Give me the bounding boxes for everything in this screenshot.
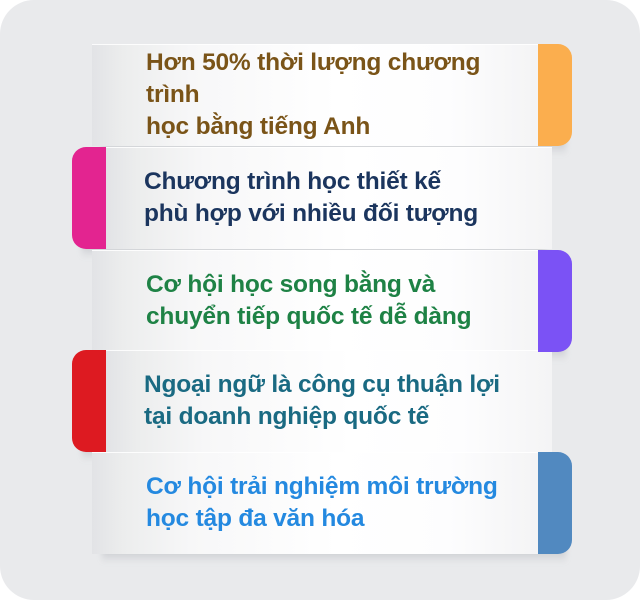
list-item[interactable]: Hơn 50% thời lượng chương trình học bằng…	[92, 44, 572, 146]
list-item[interactable]: Ngoại ngữ là công cụ thuận lợi tại doanh…	[72, 350, 552, 452]
banner-panel: Hơn 50% thời lượng chương trình học bằng…	[92, 44, 538, 146]
accent-bar	[538, 452, 572, 554]
list-item-label: Ngoại ngữ là công cụ thuận lợi tại doanh…	[144, 369, 500, 433]
list-item[interactable]: Cơ hội học song bằng và chuyển tiếp quốc…	[92, 250, 572, 352]
banner-list: Hơn 50% thời lượng chương trình học bằng…	[0, 0, 640, 600]
accent-bar	[72, 147, 106, 249]
accent-bar	[538, 44, 572, 146]
accent-bar	[538, 250, 572, 352]
list-item[interactable]: Cơ hội trải nghiệm môi trường học tập đa…	[92, 452, 572, 554]
infographic-canvas: Hơn 50% thời lượng chương trình học bằng…	[0, 0, 640, 600]
banner-panel: Cơ hội trải nghiệm môi trường học tập đa…	[92, 452, 538, 554]
banner-panel: Chương trình học thiết kế phù hợp với nh…	[106, 147, 552, 249]
list-item-label: Hơn 50% thời lượng chương trình học bằng…	[146, 47, 538, 143]
accent-bar	[72, 350, 106, 452]
list-item-label: Chương trình học thiết kế phù hợp với nh…	[144, 166, 478, 230]
banner-panel: Ngoại ngữ là công cụ thuận lợi tại doanh…	[106, 350, 552, 452]
banner-panel: Cơ hội học song bằng và chuyển tiếp quốc…	[92, 250, 538, 352]
list-item[interactable]: Chương trình học thiết kế phù hợp với nh…	[72, 147, 552, 249]
list-item-label: Cơ hội trải nghiệm môi trường học tập đa…	[146, 471, 498, 535]
list-item-label: Cơ hội học song bằng và chuyển tiếp quốc…	[146, 269, 471, 333]
